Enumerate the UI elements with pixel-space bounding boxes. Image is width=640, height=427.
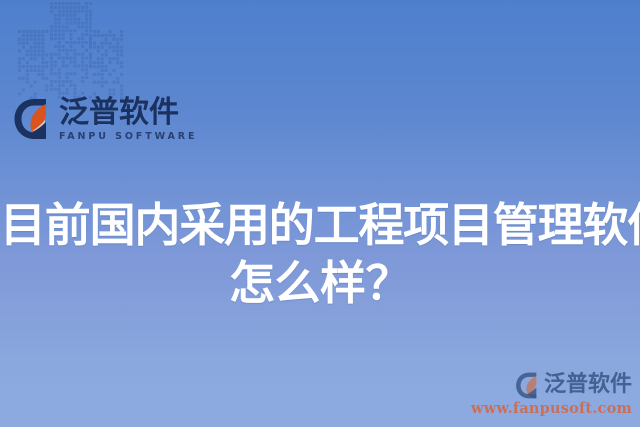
watermark-url: www.fanpusoft.com [471, 400, 632, 417]
center-building [50, 2, 92, 100]
fanpu-logo-mark-icon [13, 98, 53, 140]
watermark-logo-row: 泛普软件 [515, 372, 632, 399]
dot-matrix-city-skyline [0, 0, 160, 100]
brand-name-cn: 泛普软件 [59, 98, 197, 129]
left-building [18, 30, 48, 100]
fanpu-logo-mark-watermark-icon [515, 372, 541, 399]
watermark-name-cn: 泛普软件 [544, 374, 632, 396]
brand-wordmark: 泛普软件 FANPU SOFTWARE [59, 96, 197, 142]
brand-name-en: FANPU SOFTWARE [59, 131, 197, 142]
brand-logo: 泛普软件 FANPU SOFTWARE [13, 96, 197, 142]
headline-line-1: 目前国内采用的工程项目管理软件 [0, 196, 640, 254]
right-building [89, 30, 123, 100]
headline-line-2: 怎么样？ [0, 254, 640, 312]
watermark: 泛普软件 www.fanpusoft.com [482, 372, 632, 417]
headline: 目前国内采用的工程项目管理软件 怎么样？ [0, 196, 640, 312]
promo-banner: 泛普软件 FANPU SOFTWARE 目前国内采用的工程项目管理软件 怎么样？… [0, 0, 640, 427]
